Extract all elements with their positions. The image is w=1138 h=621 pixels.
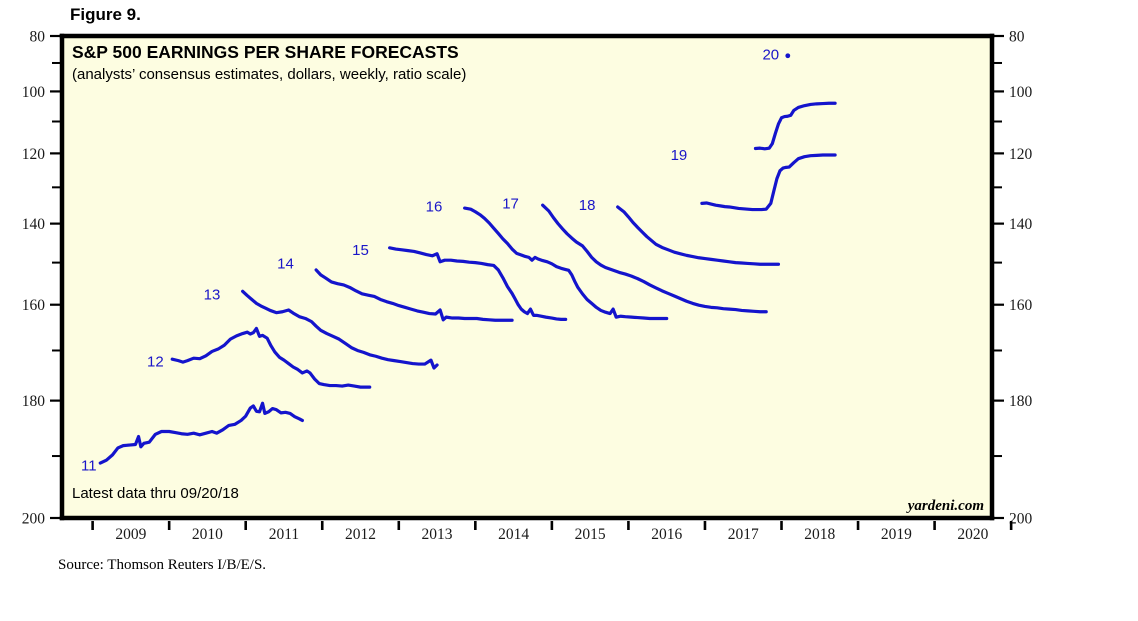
latest-data-note: Latest data thru 09/20/18 [72,485,239,502]
series-label-13: 13 [204,286,221,303]
y-axis-label-right: 80 [1009,29,1025,46]
y-axis-label-right: 140 [1009,216,1033,233]
source-note: Source: Thomson Reuters I/B/E/S. [58,557,266,574]
x-axis-label: 2018 [804,526,835,543]
y-axis-label-left: 120 [22,146,46,163]
series-label-15: 15 [352,242,369,259]
x-axis-label: 2016 [651,526,682,543]
series-label-20: 20 [762,47,779,64]
x-axis-label: 2013 [422,526,453,543]
x-axis-label: 2011 [269,526,299,543]
y-axis-label-right: 120 [1009,146,1033,163]
series-label-16: 16 [426,199,443,216]
plot-background [62,36,992,518]
y-axis-label-left: 100 [22,84,46,101]
y-axis-label-left: 140 [22,216,46,233]
axis-right [990,34,995,521]
figure-container: Figure 9. 200200180180160160140140120120… [0,0,1138,621]
series-label-19: 19 [671,147,688,164]
y-axis-label-right: 180 [1009,393,1033,410]
y-axis-label-right: 100 [1009,84,1033,101]
y-axis-label-right: 160 [1009,297,1033,314]
x-axis-label: 2019 [881,526,912,543]
x-axis-label: 2014 [498,526,529,543]
x-axis-label: 2020 [957,526,988,543]
y-axis-label-left: 160 [22,297,46,314]
x-axis-label: 2010 [192,526,223,543]
series-label-17: 17 [502,195,519,212]
axis-left [60,34,65,521]
y-axis-label-left: 200 [22,511,46,528]
x-axis-label: 2009 [115,526,146,543]
eps-forecast-chart: 2002001801801601601401401201201001008080… [0,0,1138,621]
x-axis-label: 2015 [575,526,606,543]
x-axis-label: 2017 [728,526,759,543]
chart-subtitle: (analysts’ consensus estimates, dollars,… [72,66,466,83]
watermark: yardeni.com [906,498,984,514]
series-marker-dot-20 [785,53,790,58]
series-label-14: 14 [277,255,294,272]
y-axis-label-right: 200 [1009,511,1033,528]
y-axis-label-left: 80 [30,29,46,46]
x-axis-label: 2012 [345,526,376,543]
axis-top [60,34,995,39]
axis-bottom [60,516,995,521]
chart-title: S&P 500 EARNINGS PER SHARE FORECASTS [72,42,459,62]
y-axis-label-left: 180 [22,393,46,410]
series-label-11: 11 [81,457,97,474]
series-label-12: 12 [147,354,164,371]
series-label-18: 18 [579,197,596,214]
